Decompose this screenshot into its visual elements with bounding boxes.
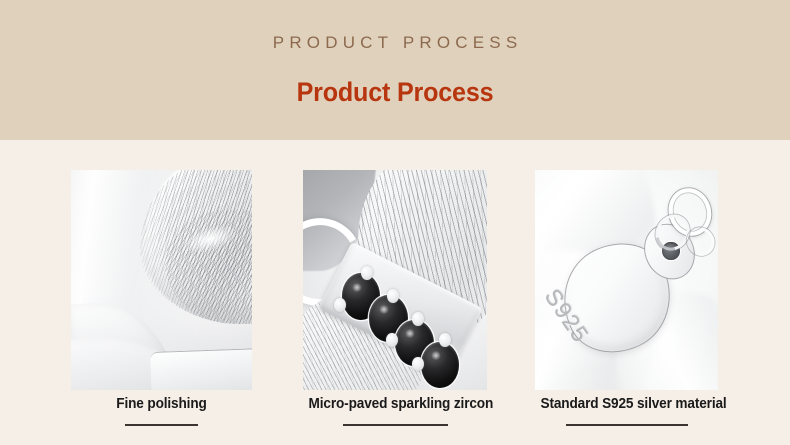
caption-micro-paved-zircon: Micro-paved sparkling zircon <box>303 392 487 426</box>
product-process-banner: PRODUCT PROCESS Product Process <box>0 0 790 445</box>
setting-prong <box>334 298 346 312</box>
zircon-stone <box>421 342 460 388</box>
process-card-micro-paved-zircon[interactable] <box>303 170 487 390</box>
setting-prong <box>361 266 373 280</box>
setting-prong <box>387 289 399 303</box>
stone-sparkle <box>431 351 441 360</box>
stone-sparkle <box>379 305 389 314</box>
stone-sparkle <box>352 283 362 292</box>
photo-fine-polishing <box>71 170 252 390</box>
caption-underline <box>566 424 688 426</box>
stone-sparkle <box>405 329 415 338</box>
process-card-s925-material[interactable]: S925 <box>535 170 718 390</box>
photo-s925-tag: S925 <box>535 170 718 390</box>
caption-s925-material: Standard S925 silver material <box>535 392 718 426</box>
caption-fine-polishing: Fine polishing <box>71 392 252 426</box>
caption-underline <box>125 424 198 426</box>
caption-label: Fine polishing <box>76 392 246 417</box>
setting-prong <box>386 333 398 347</box>
caption-underline <box>343 424 448 426</box>
caption-label: Micro-paved sparkling zircon <box>309 392 482 417</box>
section-eyebrow: PRODUCT PROCESS <box>0 33 790 53</box>
caption-row: Fine polishing Micro-paved sparkling zir… <box>0 392 790 445</box>
photo1-band-edge <box>150 348 252 390</box>
page-title: Product Process <box>28 77 763 108</box>
photo-micro-paved-zircon <box>303 170 487 390</box>
caption-label: Standard S925 silver material <box>540 392 712 417</box>
process-card-fine-polishing[interactable] <box>71 170 252 390</box>
header-band: PRODUCT PROCESS Product Process <box>0 0 790 140</box>
process-card-row: S925 <box>0 170 790 390</box>
setting-prong <box>412 357 424 371</box>
photo2-zircon-group <box>303 170 487 390</box>
